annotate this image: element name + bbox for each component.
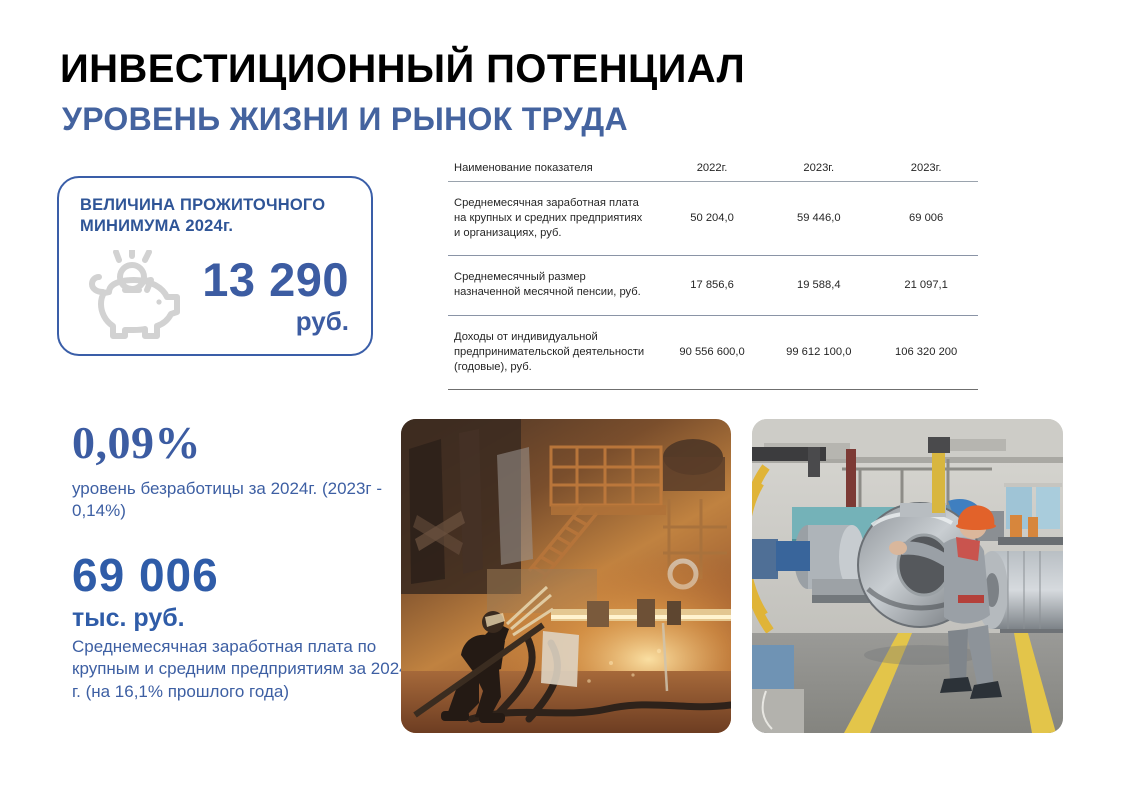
table-cell-value: 106 320 200 bbox=[874, 315, 978, 389]
table-cell-value: 17 856,6 bbox=[661, 256, 764, 315]
table-header-year-1: 2022г. bbox=[661, 160, 764, 182]
kpi-average-wage: 69 006 тыс. руб. Среднемесячная заработн… bbox=[72, 552, 412, 703]
table-cell-value: 90 556 600,0 bbox=[661, 315, 764, 389]
living-minimum-title: ВЕЛИЧИНА ПРОЖИТОЧНОГО МИНИМУМА 2024г. bbox=[80, 195, 355, 237]
page-subtitle: УРОВЕНЬ ЖИЗНИ И РЫНОК ТРУДА bbox=[62, 101, 628, 138]
table-cell-value: 50 204,0 bbox=[661, 182, 764, 256]
photo-foundry bbox=[401, 419, 731, 733]
table-header-indicator: Наименование показателя bbox=[448, 160, 661, 182]
living-minimum-unit: руб. bbox=[144, 308, 349, 334]
kpi-unemployment-value: 0,09% bbox=[72, 420, 402, 466]
table-row: Среднемесячный размер назначенной месячн… bbox=[448, 256, 978, 315]
kpi-average-wage-description: Среднемесячная заработная плата по крупн… bbox=[72, 636, 412, 704]
table-cell-value: 21 097,1 bbox=[874, 256, 978, 315]
living-minimum-card: ВЕЛИЧИНА ПРОЖИТОЧНОГО МИНИМУМА 2024г. bbox=[57, 176, 373, 356]
indicators-table: Наименование показателя 2022г. 2023г. 20… bbox=[448, 160, 978, 390]
table-cell-value: 99 612 100,0 bbox=[763, 315, 874, 389]
table-cell-indicator: Среднемесячная заработная плата на крупн… bbox=[448, 182, 661, 256]
infographic-page: ИНВЕСТИЦИОННЫЙ ПОТЕНЦИАЛ УРОВЕНЬ ЖИЗНИ И… bbox=[0, 0, 1123, 794]
living-minimum-value: 13 290 bbox=[144, 256, 349, 303]
table-cell-value: 69 006 bbox=[874, 182, 978, 256]
page-title: ИНВЕСТИЦИОННЫЙ ПОТЕНЦИАЛ bbox=[60, 47, 745, 92]
photo-rolling-mill bbox=[752, 419, 1063, 733]
kpi-unemployment: 0,09% уровень безработицы за 2024г. (202… bbox=[72, 420, 402, 522]
table-cell-indicator: Среднемесячный размер назначенной месячн… bbox=[448, 256, 661, 315]
table-row: Доходы от индивидуальной предприниматель… bbox=[448, 315, 978, 389]
table-cell-value: 59 446,0 bbox=[763, 182, 874, 256]
table-cell-indicator: Доходы от индивидуальной предприниматель… bbox=[448, 315, 661, 389]
table-header-row: Наименование показателя 2022г. 2023г. 20… bbox=[448, 160, 978, 182]
kpi-average-wage-value: 69 006 bbox=[72, 552, 412, 598]
kpi-average-wage-unit: тыс. руб. bbox=[72, 605, 412, 633]
table-header-year-3: 2023г. bbox=[874, 160, 978, 182]
kpi-unemployment-description: уровень безработицы за 2024г. (2023г - 0… bbox=[72, 478, 402, 522]
table-row: Среднемесячная заработная плата на крупн… bbox=[448, 182, 978, 256]
table-header-year-2: 2023г. bbox=[763, 160, 874, 182]
table-cell-value: 19 588,4 bbox=[763, 256, 874, 315]
